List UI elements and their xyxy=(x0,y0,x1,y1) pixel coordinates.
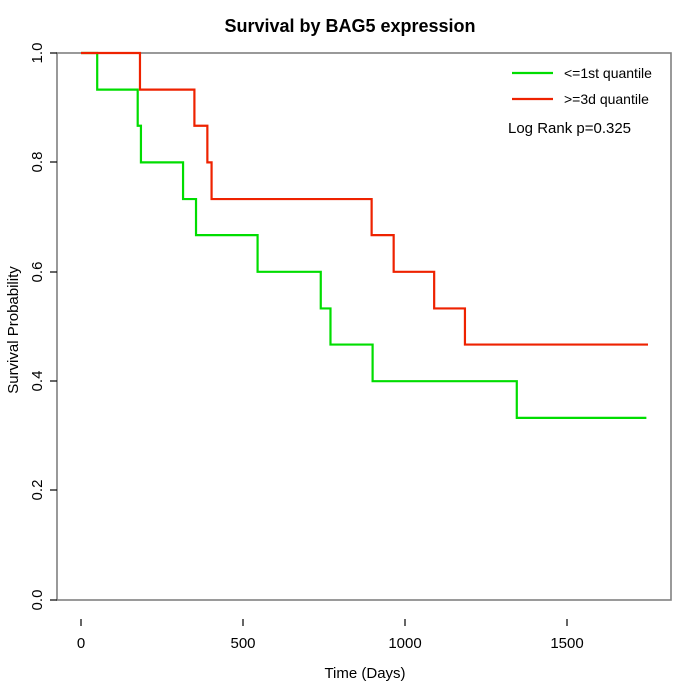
page-title: Survival by BAG5 expression xyxy=(224,16,475,36)
survival-chart: Survival by BAG5 expression 0.0 0.2 0.4 … xyxy=(0,0,700,700)
x-axis-title: Time (Days) xyxy=(324,665,405,682)
x-tick-label-0: 0 xyxy=(77,635,85,652)
x-tick-label-1: 500 xyxy=(230,635,255,652)
y-tick-label-0: 0.0 xyxy=(29,590,46,611)
y-tick-label-5: 1.0 xyxy=(29,43,46,64)
y-tick-label-4: 0.8 xyxy=(29,152,46,173)
y-axis-title: Survival Probability xyxy=(5,266,22,394)
x-tick-label-2: 1000 xyxy=(388,635,421,652)
legend-label-low-quantile: <=1st quantile xyxy=(564,65,652,81)
legend-label-high-quantile: >=3d quantile xyxy=(564,91,649,107)
survival-plot-canvas: Survival by BAG5 expression 0.0 0.2 0.4 … xyxy=(0,0,700,700)
y-tick-label-3: 0.6 xyxy=(29,262,46,283)
y-tick-label-2: 0.4 xyxy=(29,371,46,392)
y-tick-label-1: 0.2 xyxy=(29,480,46,501)
x-tick-label-3: 1500 xyxy=(550,635,583,652)
log-rank-pvalue: Log Rank p=0.325 xyxy=(508,120,631,137)
